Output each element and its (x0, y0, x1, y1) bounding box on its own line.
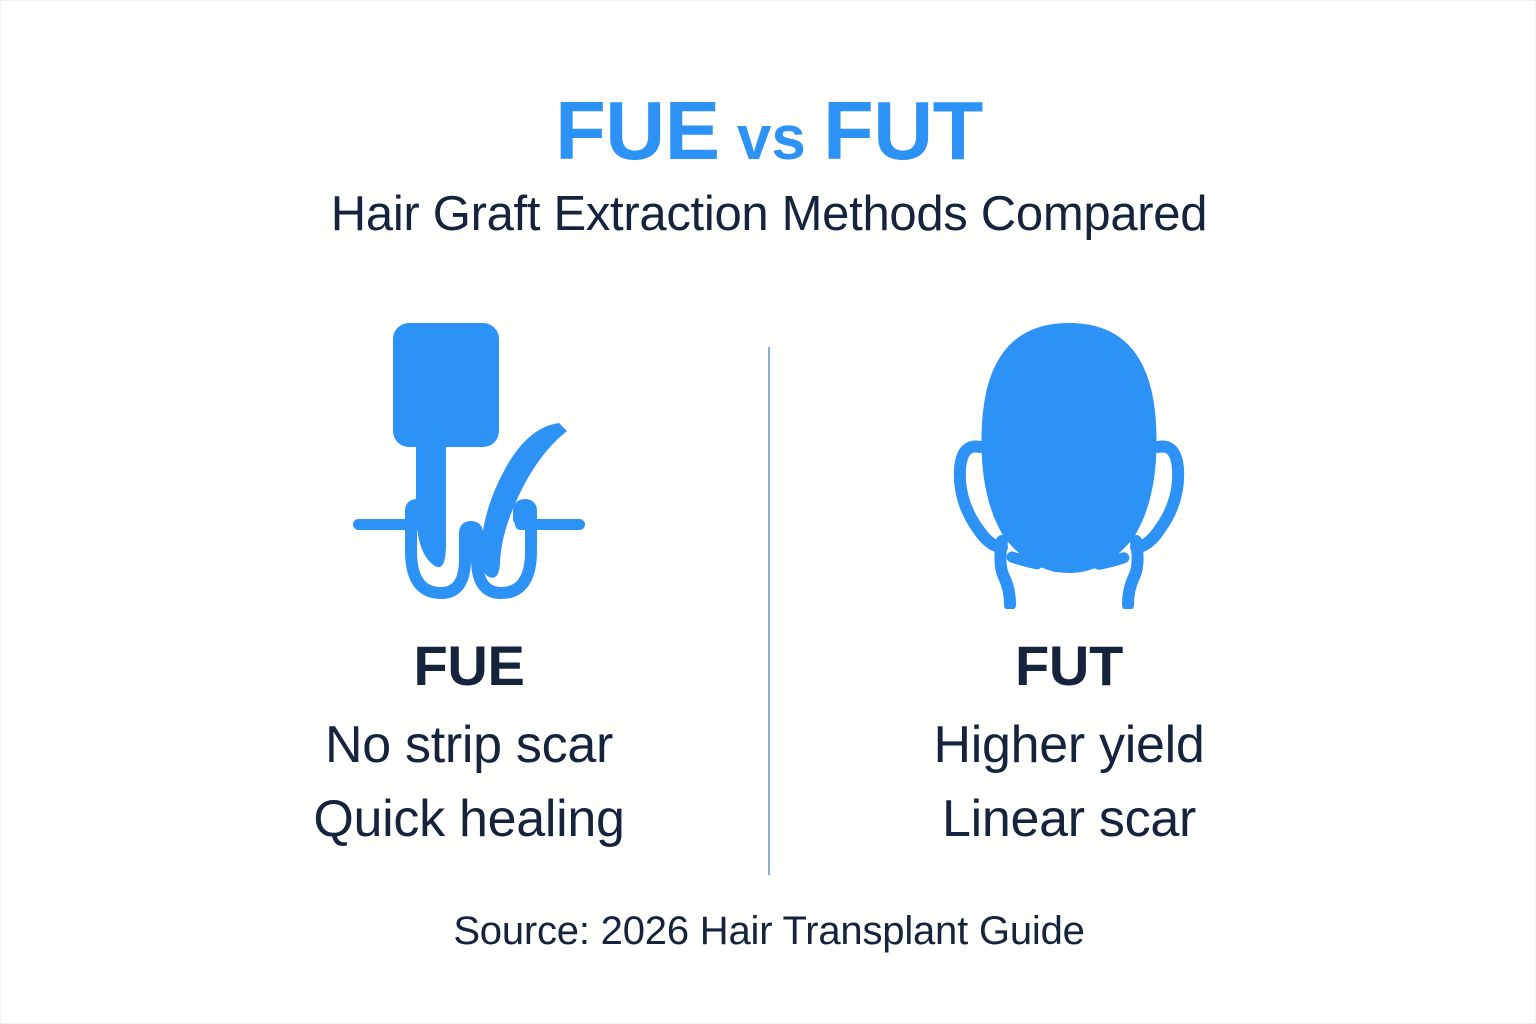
title-fue: FUE (555, 84, 720, 177)
feature-fue-2: Quick healing (159, 792, 779, 847)
feature-fut-1: Higher yield (759, 718, 1379, 773)
header-block: FUE vs FUT Hair Graft Extraction Methods… (1, 89, 1536, 239)
feature-fue-1: No strip scar (159, 718, 779, 773)
method-name-fue: FUE (159, 637, 779, 696)
title-vs: vs (720, 104, 823, 173)
infographic-canvas: FUE vs FUT Hair Graft Extraction Methods… (0, 0, 1536, 1024)
feature-fut-2: Linear scar (759, 792, 1379, 847)
comparison-column-fut: FUT Higher yield Linear scar (759, 319, 1379, 847)
head-back-strip-scar-icon (759, 319, 1379, 619)
page-title: FUE vs FUT (1, 89, 1536, 172)
comparison-column-fue: FUE No strip scar Quick healing (159, 319, 779, 847)
comparison-section: FUE No strip scar Quick healing (1, 319, 1536, 864)
source-caption: Source: 2026 Hair Transplant Guide (1, 909, 1536, 954)
method-name-fut: FUT (759, 637, 1379, 696)
page-subtitle: Hair Graft Extraction Methods Compared (1, 190, 1536, 239)
follicle-punch-extraction-icon (159, 319, 779, 619)
title-fut: FUT (823, 84, 983, 177)
